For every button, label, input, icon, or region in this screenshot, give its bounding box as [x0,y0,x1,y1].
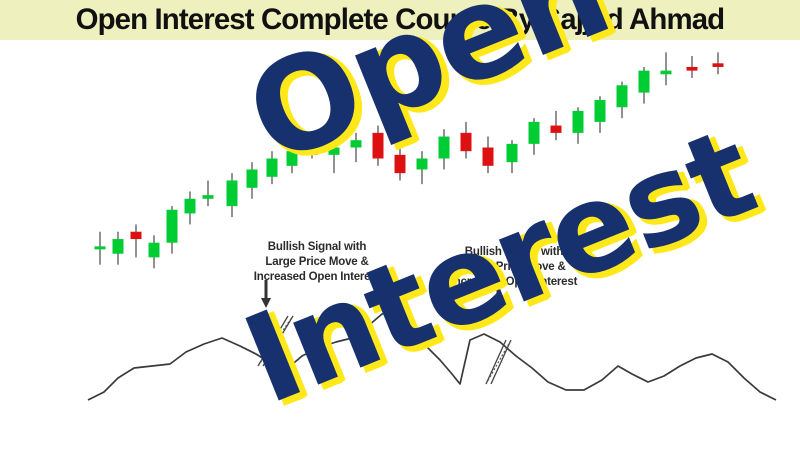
arrow-head [493,306,503,316]
candle-body [307,144,318,155]
open-interest-series [88,310,776,400]
candle-body [329,148,340,155]
hatched-riser [486,340,511,384]
candle-body [167,210,178,243]
candle-body [687,67,698,71]
candle-body [439,137,450,159]
candle-body [507,144,518,162]
candlestick-series [95,52,724,268]
candle-body [131,232,142,239]
candle-body [351,140,362,147]
candle-body [267,159,278,177]
candle-body [287,151,298,166]
annotation-left: Bullish Signal with Large Price Move & I… [222,240,412,285]
candle-body [483,148,494,166]
page-title: Open Interest Complete Course By Sajjad … [76,2,725,38]
candle-body [227,180,238,206]
candle-body [185,199,196,214]
candle-body [149,243,160,258]
candle-body [617,85,628,107]
annotation-right: Bullish Signal with Large Price Move & I… [424,245,604,290]
hatched-riser [258,316,293,366]
candle-body [595,100,606,122]
candle-body [639,71,650,93]
candle-body [95,246,106,249]
screenshot-root: Open Interest Complete Course By Sajjad … [0,0,800,450]
candle-body [461,133,472,151]
candle-body [395,155,406,173]
arrow-head [261,298,271,308]
candle-body [113,239,124,254]
candle-body [573,111,584,133]
candle-body [203,195,214,199]
candle-body [661,71,672,75]
candle-body [529,122,540,144]
candle-body [247,169,258,187]
header-bar: Open Interest Complete Course By Sajjad … [0,0,800,40]
candle-body [713,63,724,67]
chart-canvas: Bullish Signal with Large Price Move & I… [0,40,800,450]
open-interest-line [88,310,776,400]
candle-body [373,133,384,159]
candle-body [417,159,428,170]
candle-body [551,126,562,133]
chart-markers [258,280,511,384]
